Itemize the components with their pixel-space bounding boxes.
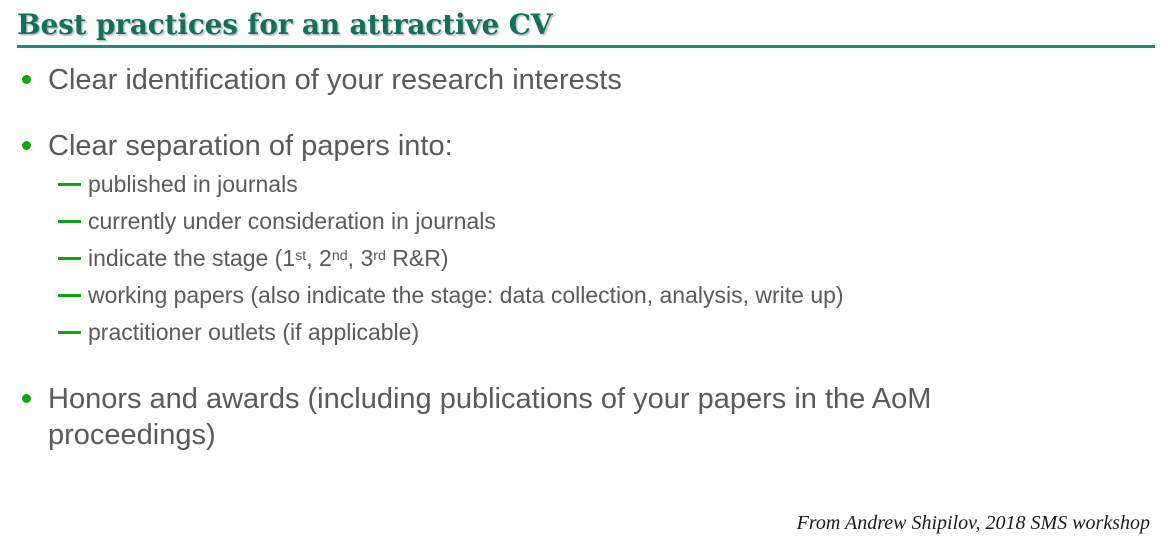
sub-bullet-text: indicate the stage (1st, 2nd, 3rd R&R) bbox=[88, 240, 1168, 277]
sub-bullet-item: indicate the stage (1st, 2nd, 3rd R&R) bbox=[0, 240, 1168, 277]
sub-bullet-text: published in journals bbox=[88, 166, 1168, 203]
bullet-dot-icon bbox=[22, 141, 31, 150]
bullet-text: Honors and awards (including publication… bbox=[48, 381, 1038, 453]
sub-bullet-item: working papers (also indicate the stage:… bbox=[0, 277, 1168, 314]
sub-bullet-item: currently under consideration in journal… bbox=[0, 203, 1168, 240]
bullet-item: Honors and awards (including publication… bbox=[0, 381, 1168, 453]
page-title: Best practices for an attractive CV bbox=[17, 8, 1157, 42]
bullet-item: Clear separation of papers into: bbox=[0, 128, 1168, 164]
em-dash-icon bbox=[58, 220, 81, 223]
spacer bbox=[0, 98, 1168, 128]
sub-bullet-item: published in journals bbox=[0, 166, 1168, 203]
title-underline-rule bbox=[17, 45, 1155, 48]
bullet-text: Clear identification of your research in… bbox=[48, 62, 1168, 98]
slide-title-block: Best practices for an attractive CV bbox=[17, 8, 1157, 42]
slide-body: Clear identification of your research in… bbox=[0, 62, 1168, 453]
bullet-dot-icon bbox=[22, 394, 31, 403]
sub-bullet-text: practitioner outlets (if applicable) bbox=[88, 314, 1168, 351]
em-dash-icon bbox=[58, 183, 81, 186]
slide-canvas: Best practices for an attractive CV Clea… bbox=[0, 0, 1168, 543]
em-dash-icon bbox=[58, 257, 81, 260]
sub-bullet-item: practitioner outlets (if applicable) bbox=[0, 314, 1168, 351]
em-dash-icon bbox=[58, 294, 81, 297]
source-attribution: From Andrew Shipilov, 2018 SMS workshop bbox=[797, 511, 1150, 535]
sub-bullet-list: published in journals currently under co… bbox=[0, 166, 1168, 351]
em-dash-icon bbox=[58, 331, 81, 334]
bullet-dot-icon bbox=[22, 75, 31, 84]
spacer bbox=[0, 351, 1168, 381]
bullet-item: Clear identification of your research in… bbox=[0, 62, 1168, 98]
sub-bullet-text: currently under consideration in journal… bbox=[88, 203, 1168, 240]
sub-bullet-text: working papers (also indicate the stage:… bbox=[88, 277, 1168, 314]
bullet-text: Clear separation of papers into: bbox=[48, 128, 1168, 164]
